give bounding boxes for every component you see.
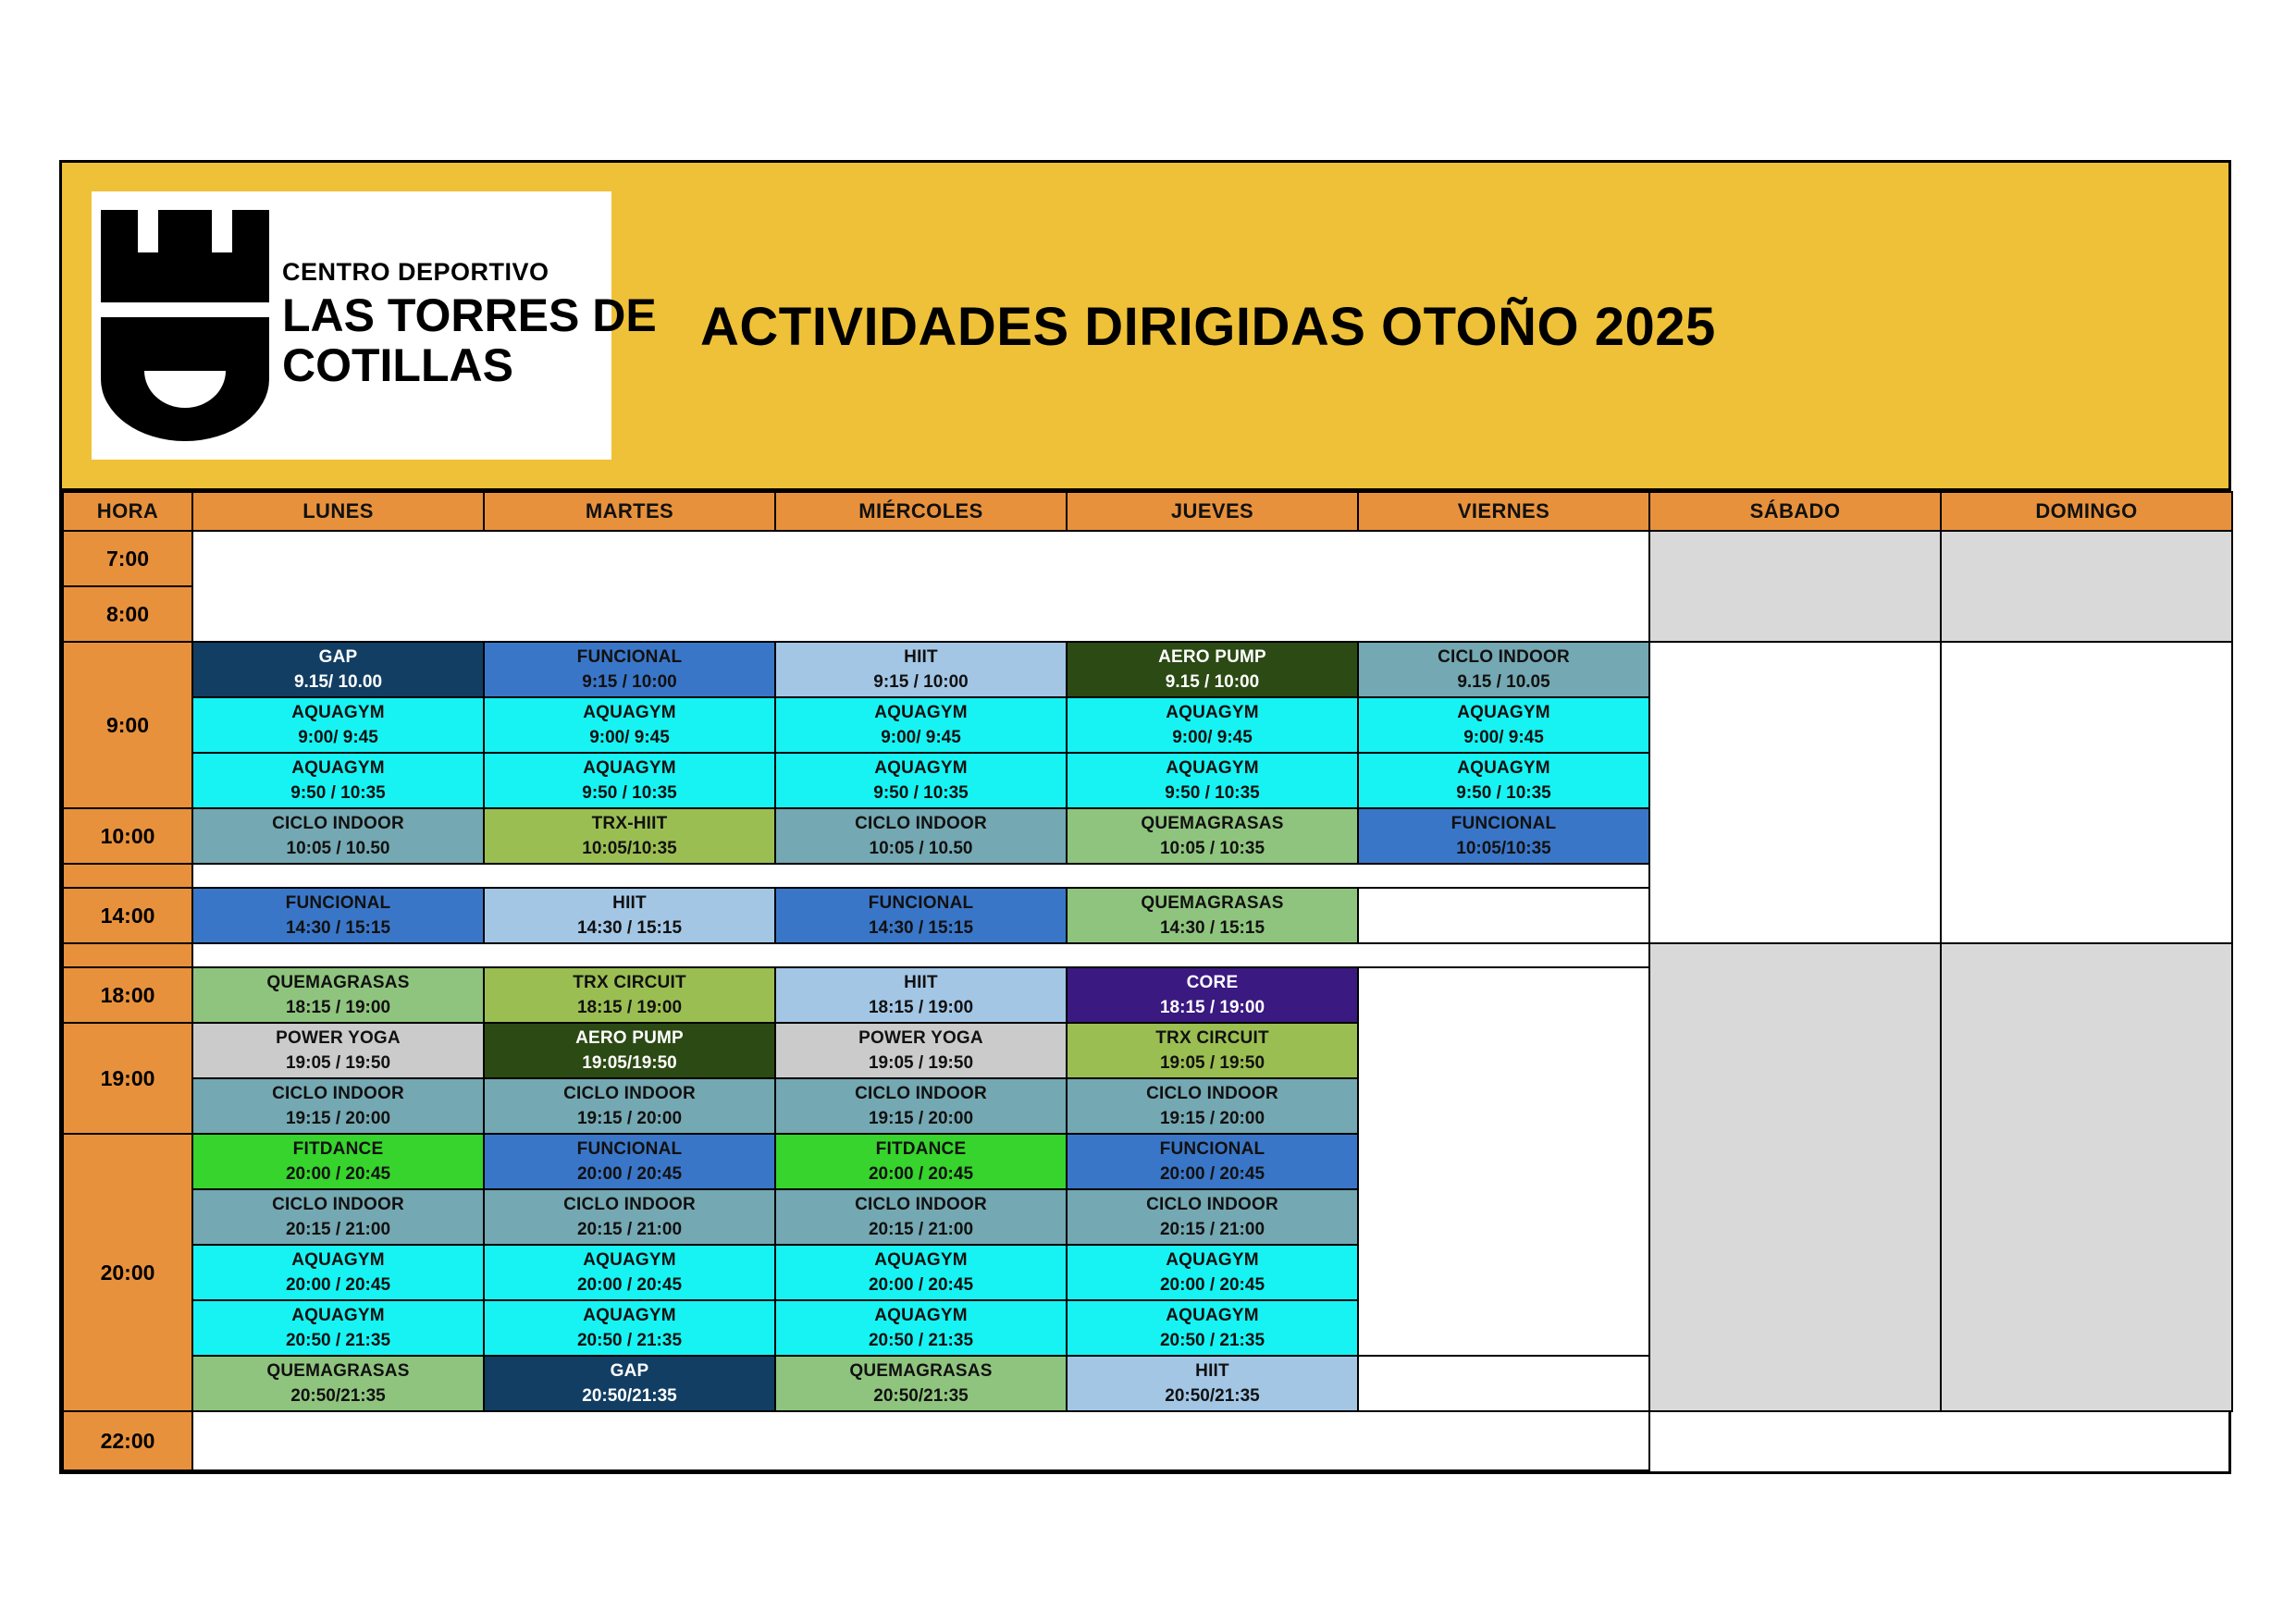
table-row: 22:00 <box>63 1411 2232 1470</box>
activity-cell[interactable]: POWER YOGA19:05 / 19:50 <box>775 1023 1067 1078</box>
col-header-sabado: SÁBADO <box>1649 492 1941 531</box>
col-header-domingo: DOMINGO <box>1941 492 2232 531</box>
table-row: 9:00 GAP9.15/ 10.00 FUNCIONAL9:15 / 10:0… <box>63 642 2232 697</box>
activity-cell[interactable]: CICLO INDOOR19:15 / 20:00 <box>192 1078 484 1134</box>
table-header-row: HORA LUNES MARTES MIÉRCOLES JUEVES VIERN… <box>63 492 2232 531</box>
hour-gap-morning <box>63 864 192 888</box>
activity-cell[interactable]: AQUAGYM9:00/ 9:45 <box>192 697 484 753</box>
activity-cell[interactable]: AERO PUMP9.15 / 10:00 <box>1067 642 1358 697</box>
activity-cell[interactable]: POWER YOGA19:05 / 19:50 <box>192 1023 484 1078</box>
activity-cell[interactable]: CICLO INDOOR20:15 / 21:00 <box>1067 1189 1358 1245</box>
activity-cell[interactable]: QUEMAGRASAS18:15 / 19:00 <box>192 967 484 1023</box>
activity-cell[interactable]: AQUAGYM9:50 / 10:35 <box>775 753 1067 808</box>
activity-cell[interactable]: CORE18:15 / 19:00 <box>1067 967 1358 1023</box>
weekend-closed-sabado-morning <box>1649 531 1941 642</box>
col-header-jueves: JUEVES <box>1067 492 1358 531</box>
col-header-miercoles: MIÉRCOLES <box>775 492 1067 531</box>
activity-cell[interactable]: AQUAGYM20:00 / 20:45 <box>192 1245 484 1300</box>
activity-cell[interactable]: AQUAGYM9:00/ 9:45 <box>1358 697 1649 753</box>
empty-slot-midday <box>192 864 1649 888</box>
empty-slot-night <box>192 1411 1649 1470</box>
activity-cell[interactable]: HIIT9:15 / 10:00 <box>775 642 1067 697</box>
activity-cell[interactable]: FUNCIONAL10:05/10:35 <box>1358 808 1649 864</box>
castle-tower-logo-icon <box>101 210 269 441</box>
activity-cell[interactable]: CICLO INDOOR20:15 / 21:00 <box>775 1189 1067 1245</box>
brand-logo: CENTRO DEPORTIVO LAS TORRES DE COTILLAS <box>92 191 611 460</box>
activity-cell[interactable]: AQUAGYM9:00/ 9:45 <box>484 697 775 753</box>
activity-cell[interactable]: AQUAGYM20:50 / 21:35 <box>775 1300 1067 1356</box>
weekend-open-sabado-midday <box>1649 642 1941 943</box>
activity-cell[interactable]: TRX CIRCUIT18:15 / 19:00 <box>484 967 775 1023</box>
activity-cell[interactable]: CICLO INDOOR10:05 / 10.50 <box>775 808 1067 864</box>
activity-cell[interactable]: FUNCIONAL20:00 / 20:45 <box>1067 1134 1358 1189</box>
hour-label-19: 19:00 <box>63 1023 192 1134</box>
col-header-hora: HORA <box>63 492 192 531</box>
hour-label-18: 18:00 <box>63 967 192 1023</box>
activity-cell[interactable]: CICLO INDOOR19:15 / 20:00 <box>1067 1078 1358 1134</box>
col-header-martes: MARTES <box>484 492 775 531</box>
activity-cell[interactable]: CICLO INDOOR19:15 / 20:00 <box>775 1078 1067 1134</box>
poster-banner: CENTRO DEPORTIVO LAS TORRES DE COTILLAS … <box>62 163 2228 491</box>
activity-cell[interactable]: HIIT14:30 / 15:15 <box>484 888 775 943</box>
weekend-closed-domingo-morning <box>1941 531 2232 642</box>
activity-cell[interactable]: QUEMAGRASAS10:05 / 10:35 <box>1067 808 1358 864</box>
hour-label-7: 7:00 <box>63 531 192 586</box>
activity-cell[interactable]: AQUAGYM9:50 / 10:35 <box>1067 753 1358 808</box>
hour-label-9: 9:00 <box>63 642 192 808</box>
activity-cell[interactable]: QUEMAGRASAS14:30 / 15:15 <box>1067 888 1358 943</box>
activity-cell[interactable]: CICLO INDOOR19:15 / 20:00 <box>484 1078 775 1134</box>
activity-cell[interactable]: CICLO INDOOR20:15 / 21:00 <box>192 1189 484 1245</box>
empty-slot-viernes-14 <box>1358 888 1649 943</box>
activity-cell[interactable]: QUEMAGRASAS20:50/21:35 <box>192 1356 484 1411</box>
activity-cell[interactable]: AQUAGYM9:50 / 10:35 <box>1358 753 1649 808</box>
hour-label-22: 22:00 <box>63 1411 192 1470</box>
activity-cell[interactable]: TRX CIRCUIT19:05 / 19:50 <box>1067 1023 1358 1078</box>
hour-label-14: 14:00 <box>63 888 192 943</box>
col-header-viernes: VIERNES <box>1358 492 1649 531</box>
activity-cell[interactable]: AQUAGYM9:00/ 9:45 <box>775 697 1067 753</box>
activity-cell[interactable]: AQUAGYM9:50 / 10:35 <box>484 753 775 808</box>
activity-cell[interactable]: FITDANCE20:00 / 20:45 <box>775 1134 1067 1189</box>
activity-cell[interactable]: HIIT18:15 / 19:00 <box>775 967 1067 1023</box>
hour-gap-afternoon <box>63 943 192 967</box>
weekend-closed-sabado-evening <box>1649 943 1941 1411</box>
activity-cell[interactable]: AQUAGYM20:00 / 20:45 <box>775 1245 1067 1300</box>
activity-cell[interactable]: CICLO INDOOR20:15 / 21:00 <box>484 1189 775 1245</box>
schedule-poster: CENTRO DEPORTIVO LAS TORRES DE COTILLAS … <box>59 160 2231 1474</box>
hour-label-20: 20:00 <box>63 1134 192 1411</box>
activity-cell[interactable]: AQUAGYM9:50 / 10:35 <box>192 753 484 808</box>
empty-slot-morning-early <box>192 531 1649 642</box>
activity-cell[interactable]: AERO PUMP19:05/19:50 <box>484 1023 775 1078</box>
schedule-table: HORA LUNES MARTES MIÉRCOLES JUEVES VIERN… <box>62 491 2233 1471</box>
activity-cell[interactable]: AQUAGYM20:50 / 21:35 <box>1067 1300 1358 1356</box>
activity-cell[interactable]: FUNCIONAL14:30 / 15:15 <box>775 888 1067 943</box>
hour-label-10: 10:00 <box>63 808 192 864</box>
activity-cell[interactable]: FUNCIONAL9:15 / 10:00 <box>484 642 775 697</box>
activity-cell[interactable]: GAP20:50/21:35 <box>484 1356 775 1411</box>
empty-slot-afternoon <box>192 943 1649 967</box>
activity-cell[interactable]: GAP9.15/ 10.00 <box>192 642 484 697</box>
activity-cell[interactable]: AQUAGYM9:00/ 9:45 <box>1067 697 1358 753</box>
activity-cell[interactable]: AQUAGYM20:50 / 21:35 <box>484 1300 775 1356</box>
table-row: 7:00 <box>63 531 2232 586</box>
activity-cell[interactable]: FUNCIONAL20:00 / 20:45 <box>484 1134 775 1189</box>
activity-cell[interactable]: AQUAGYM20:00 / 20:45 <box>1067 1245 1358 1300</box>
activity-cell[interactable]: QUEMAGRASAS20:50/21:35 <box>775 1356 1067 1411</box>
page-title: ACTIVIDADES DIRIGIDAS OTOÑO 2025 <box>700 163 1716 491</box>
weekend-open-domingo-midday <box>1941 642 2232 943</box>
activity-cell[interactable]: TRX-HIIT10:05/10:35 <box>484 808 775 864</box>
activity-cell[interactable]: CICLO INDOOR9.15 / 10.05 <box>1358 642 1649 697</box>
empty-slot-viernes-evening <box>1358 967 1649 1356</box>
activity-cell[interactable]: AQUAGYM20:50 / 21:35 <box>192 1300 484 1356</box>
col-header-lunes: LUNES <box>192 492 484 531</box>
weekend-closed-domingo-evening <box>1941 943 2232 1411</box>
activity-cell[interactable]: FITDANCE20:00 / 20:45 <box>192 1134 484 1189</box>
activity-cell[interactable]: CICLO INDOOR10:05 / 10.50 <box>192 808 484 864</box>
activity-cell[interactable]: FUNCIONAL14:30 / 15:15 <box>192 888 484 943</box>
hour-label-8: 8:00 <box>63 586 192 642</box>
brand-line-2: COTILLAS <box>282 342 657 388</box>
brand-line-1: LAS TORRES DE <box>282 292 657 338</box>
table-row <box>63 943 2232 967</box>
brand-tagline: CENTRO DEPORTIVO <box>282 260 657 285</box>
activity-cell[interactable]: HIIT20:50/21:35 <box>1067 1356 1358 1411</box>
activity-cell[interactable]: AQUAGYM20:00 / 20:45 <box>484 1245 775 1300</box>
